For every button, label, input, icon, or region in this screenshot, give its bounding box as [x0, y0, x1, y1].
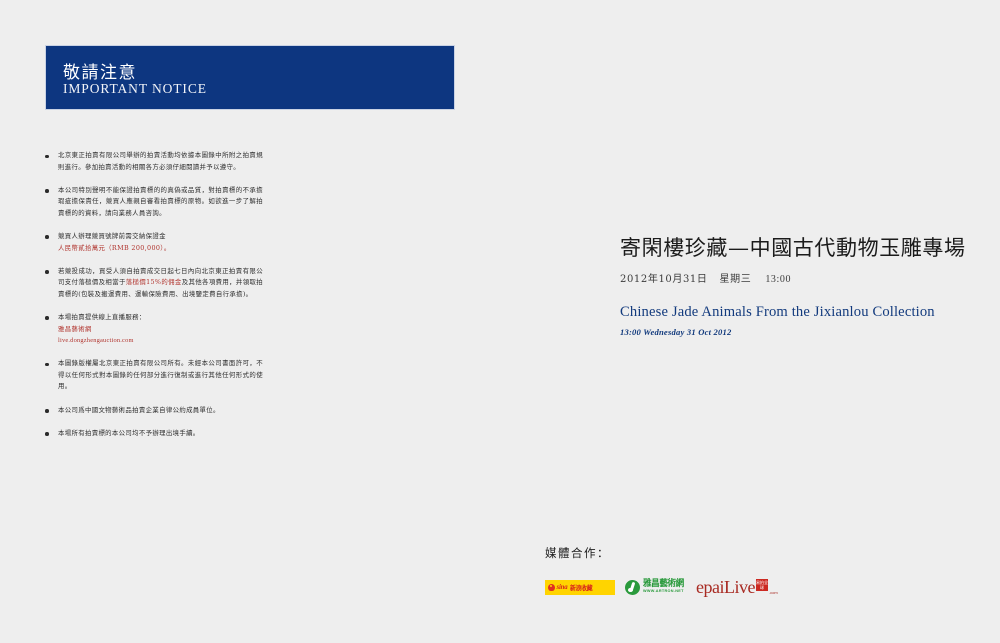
notice-text: 本場所有拍賣標的本公司均不予辦理出境手續。	[58, 428, 263, 440]
bullet-icon	[45, 409, 54, 413]
notice-text: 本公司特別聲明不能保證拍賣標的的真偽或品質，對拍賣標的不承擔瑕疵擔保責任，競買人…	[58, 185, 263, 220]
notice-text: 競買人辦理競買號牌前需交納保證金 人民幣貳拾萬元（RMB 200,000）。	[58, 231, 263, 254]
bullet-icon	[45, 432, 54, 436]
sina-label-cn: 新浪收藏	[570, 583, 592, 592]
important-notice-banner: 敬請注意 IMPORTANT NOTICE	[45, 45, 455, 110]
list-item: 本場所有拍賣標的本公司均不予辦理出境手續。	[45, 428, 263, 440]
banner-title-cn: 敬請注意	[63, 58, 137, 83]
sale-title-cn: 寄閑樓珍藏—中國古代動物玉雕專場	[620, 232, 960, 262]
deposit-amount: 人民幣貳拾萬元（RMB 200,000）。	[58, 243, 263, 255]
notice-text: 北京東正拍賣有限公司舉辦的拍賣活動均依據本圖錄中所附之拍賣規則進行。參加拍賣活動…	[58, 150, 263, 173]
epailive-badge: 易拍全球	[756, 579, 768, 591]
artron-url: WWW.ARTRON.NET	[643, 590, 686, 594]
media-partners-label: 媒體合作：	[545, 545, 845, 561]
sale-date-value: 2012年10月31日	[620, 274, 708, 285]
notice-line: 北京東正拍賣有限公司舉辦的拍賣活動均依據本圖錄中所附之拍賣規則進行。參加拍賣活動…	[58, 151, 263, 171]
commission-rate: 落槌價15%的佣金	[126, 278, 182, 286]
artron-logo[interactable]: 雅昌藝術網 WWW.ARTRON.NET	[625, 580, 686, 595]
artron-mark-icon	[625, 580, 640, 595]
bullet-icon	[45, 270, 54, 274]
notice-text: 本圖錄版權屬北京東正拍賣有限公司所有。未經本公司書面許可，不得以任何形式對本圖錄…	[58, 358, 263, 393]
media-partners-section: 媒體合作： sina 新浪收藏 雅昌藝術網 WWW.ARTRON.NET epa…	[545, 545, 845, 596]
notice-list: 北京東正拍賣有限公司舉辦的拍賣活動均依據本圖錄中所附之拍賣規則進行。參加拍賣活動…	[45, 150, 263, 451]
list-item: 本公司特別聲明不能保證拍賣標的的真偽或品質，對拍賣標的不承擔瑕疵擔保責任，競買人…	[45, 185, 263, 220]
epailive-logo[interactable]: epaiLive 易拍全球 .com	[696, 578, 778, 596]
sina-wordmark: sina	[557, 584, 568, 591]
notice-line: 本公司特別聲明不能保證拍賣標的的真偽或品質，對拍賣標的不承擔瑕疵擔保責任，競買人…	[58, 186, 263, 217]
sale-date-en: 13:00 Wednesday 31 Oct 2012	[620, 327, 960, 337]
livestream-url[interactable]: live.dongzhengauction.com	[58, 335, 263, 347]
epailive-wordmark: epaiLive	[696, 578, 755, 596]
notice-text: 本公司爲中國文物藝術品拍賣企業自律公約成員單位。	[58, 405, 263, 417]
list-item: 本圖錄版權屬北京東正拍賣有限公司所有。未經本公司書面許可，不得以任何形式對本圖錄…	[45, 358, 263, 393]
sale-date-cn: 2012年10月31日星期三13:00	[620, 270, 960, 285]
notice-text: 若競投成功，買受人須自拍賣成交日起七日內向北京東正拍賣有限公司支付落槌價及相當于…	[58, 266, 263, 301]
list-item: 本公司爲中國文物藝術品拍賣企業自律公約成員單位。	[45, 405, 263, 417]
list-item: 若競投成功，買受人須自拍賣成交日起七日內向北京東正拍賣有限公司支付落槌價及相當于…	[45, 266, 263, 301]
epailive-dotcom: .com	[769, 590, 778, 595]
artron-label-cn: 雅昌藝術網	[643, 580, 684, 589]
bullet-icon	[45, 363, 54, 367]
sina-eye-icon	[548, 584, 555, 591]
notice-text: 本場拍賣提供線上直播服務： 雅昌藝術網 live.dongzhengauctio…	[58, 312, 263, 347]
notice-line: 本圖錄版權屬北京東正拍賣有限公司所有。未經本公司書面許可，不得以任何形式對本圖錄…	[58, 359, 263, 390]
sale-time: 13:00	[765, 274, 791, 285]
sale-weekday: 星期三	[720, 274, 752, 285]
notice-line: 本公司爲中國文物藝術品拍賣企業自律公約成員單位。	[58, 406, 220, 414]
artron-wordmark: 雅昌藝術網 WWW.ARTRON.NET	[643, 580, 686, 594]
bullet-icon	[45, 235, 54, 239]
bullet-icon	[45, 155, 54, 159]
banner-title-en: IMPORTANT NOTICE	[63, 81, 207, 97]
sale-title-block: 寄閑樓珍藏—中國古代動物玉雕專場 2012年10月31日星期三13:00 Chi…	[620, 232, 960, 337]
notice-line: 本場所有拍賣標的本公司均不予辦理出境手續。	[58, 429, 200, 437]
list-item: 北京東正拍賣有限公司舉辦的拍賣活動均依據本圖錄中所附之拍賣規則進行。參加拍賣活動…	[45, 150, 263, 173]
media-logos: sina 新浪收藏 雅昌藝術網 WWW.ARTRON.NET epaiLive …	[545, 578, 845, 596]
notice-line: 本場拍賣提供線上直播服務：	[58, 312, 263, 324]
sale-title-en: Chinese Jade Animals From the Jixianlou …	[620, 304, 960, 321]
list-item: 競買人辦理競買號牌前需交納保證金 人民幣貳拾萬元（RMB 200,000）。	[45, 231, 263, 254]
livestream-provider: 雅昌藝術網	[58, 324, 263, 336]
bullet-icon	[45, 189, 54, 193]
list-item: 本場拍賣提供線上直播服務： 雅昌藝術網 live.dongzhengauctio…	[45, 312, 263, 347]
sina-logo[interactable]: sina 新浪收藏	[545, 580, 615, 595]
notice-line: 競買人辦理競買號牌前需交納保證金	[58, 231, 263, 243]
bullet-icon	[45, 316, 54, 320]
